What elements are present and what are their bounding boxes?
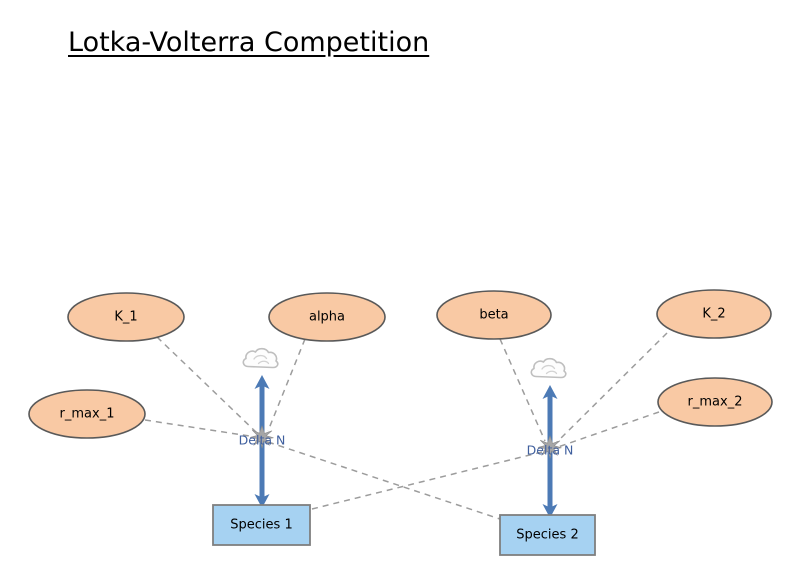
dashed-link-k1-to-delta1 (157, 337, 258, 434)
cloud-icon (531, 359, 565, 378)
species-boxes-layer (213, 505, 595, 555)
dashed-link-rmax2-to-delta2 (558, 412, 659, 447)
parameter-ellipses-layer (29, 290, 772, 438)
parameter-ellipse-rmax1[interactable] (29, 390, 145, 438)
diagram-canvas (0, 0, 800, 579)
dashed-link-rmax1-to-delta1 (145, 420, 256, 437)
dashed-link-species1-to-delta2 (312, 452, 542, 509)
growth-arrows-layer (255, 375, 558, 518)
parameter-ellipse-alpha[interactable] (269, 293, 385, 341)
star-nodes-layer (250, 426, 562, 458)
star-junction-node[interactable] (538, 436, 562, 458)
page-title: Lotka-Volterra Competition (68, 27, 429, 58)
parameter-ellipse-k1[interactable] (68, 293, 184, 341)
species-box-species1[interactable] (213, 505, 310, 545)
cloud-icon (243, 349, 277, 368)
dashed-links-layer (145, 333, 667, 519)
parameter-ellipse-rmax2[interactable] (658, 378, 772, 426)
species-box-species2[interactable] (500, 515, 595, 555)
parameter-ellipse-k2[interactable] (657, 290, 771, 338)
dashed-link-beta-to-delta2 (500, 339, 545, 441)
dashed-link-k2-to-delta2 (557, 333, 667, 442)
parameter-ellipse-beta[interactable] (437, 291, 551, 339)
